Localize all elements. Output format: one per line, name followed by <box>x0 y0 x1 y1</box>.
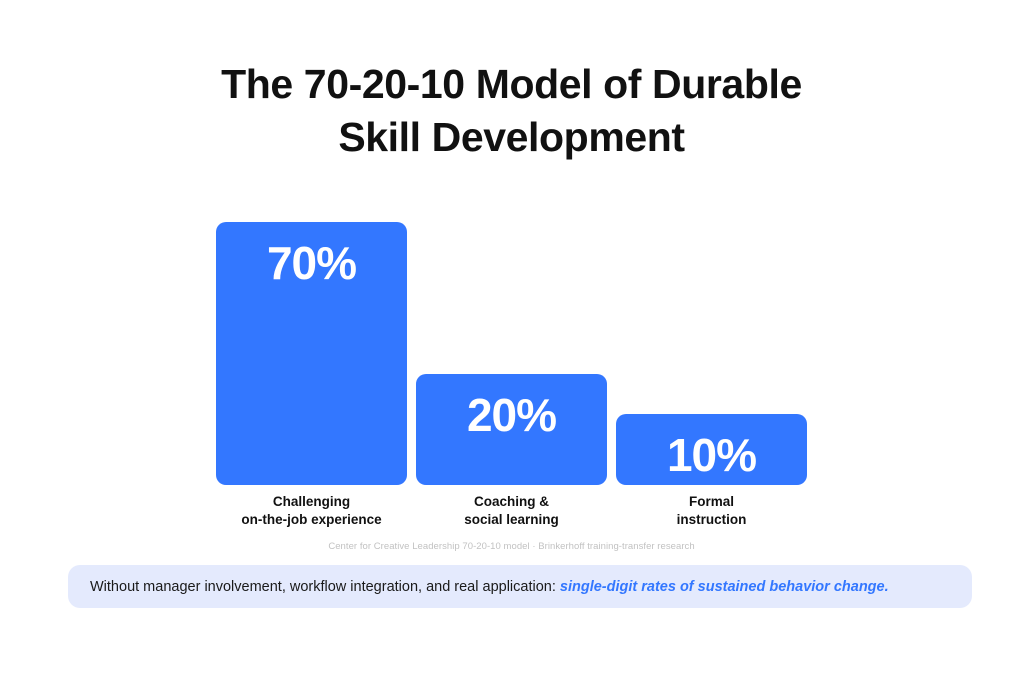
category-axis-labels: Challenging on-the-job experience Coachi… <box>216 493 807 533</box>
bar-chart-plot-area: 70% 20% 10% <box>216 210 807 485</box>
callout-banner: Without manager involvement, workflow in… <box>68 565 972 608</box>
category-label-coaching-social-learning: Coaching & social learning <box>416 493 607 530</box>
category-label-formal-instruction: Formal instruction <box>616 493 807 530</box>
category-label-challenging-on-the-job-experience: Challenging on-the-job experience <box>216 493 407 530</box>
source-attribution: Center for Creative Leadership 70-20-10 … <box>0 541 1023 552</box>
infographic-canvas: The 70-20-10 Model of Durable Skill Deve… <box>0 0 1023 677</box>
bar-value-label: 70% <box>216 236 407 290</box>
bar-70[interactable]: 70% <box>216 222 407 485</box>
bar-group-coaching-social-learning: 20% <box>416 210 607 485</box>
callout-lead-text: Without manager involvement, workflow in… <box>90 579 560 595</box>
bar-value-label: 10% <box>616 428 807 482</box>
bar-value-label: 20% <box>416 388 607 442</box>
bar-10[interactable]: 10% <box>616 414 807 485</box>
bar-20[interactable]: 20% <box>416 374 607 485</box>
callout-text: Without manager involvement, workflow in… <box>68 579 889 595</box>
bar-group-formal-instruction: 10% <box>616 210 807 485</box>
callout-accent-text: single-digit rates of sustained behavior… <box>560 579 889 595</box>
bar-group-challenging-on-the-job-experience: 70% <box>216 210 407 485</box>
page-title: The 70-20-10 Model of Durable Skill Deve… <box>0 58 1023 165</box>
